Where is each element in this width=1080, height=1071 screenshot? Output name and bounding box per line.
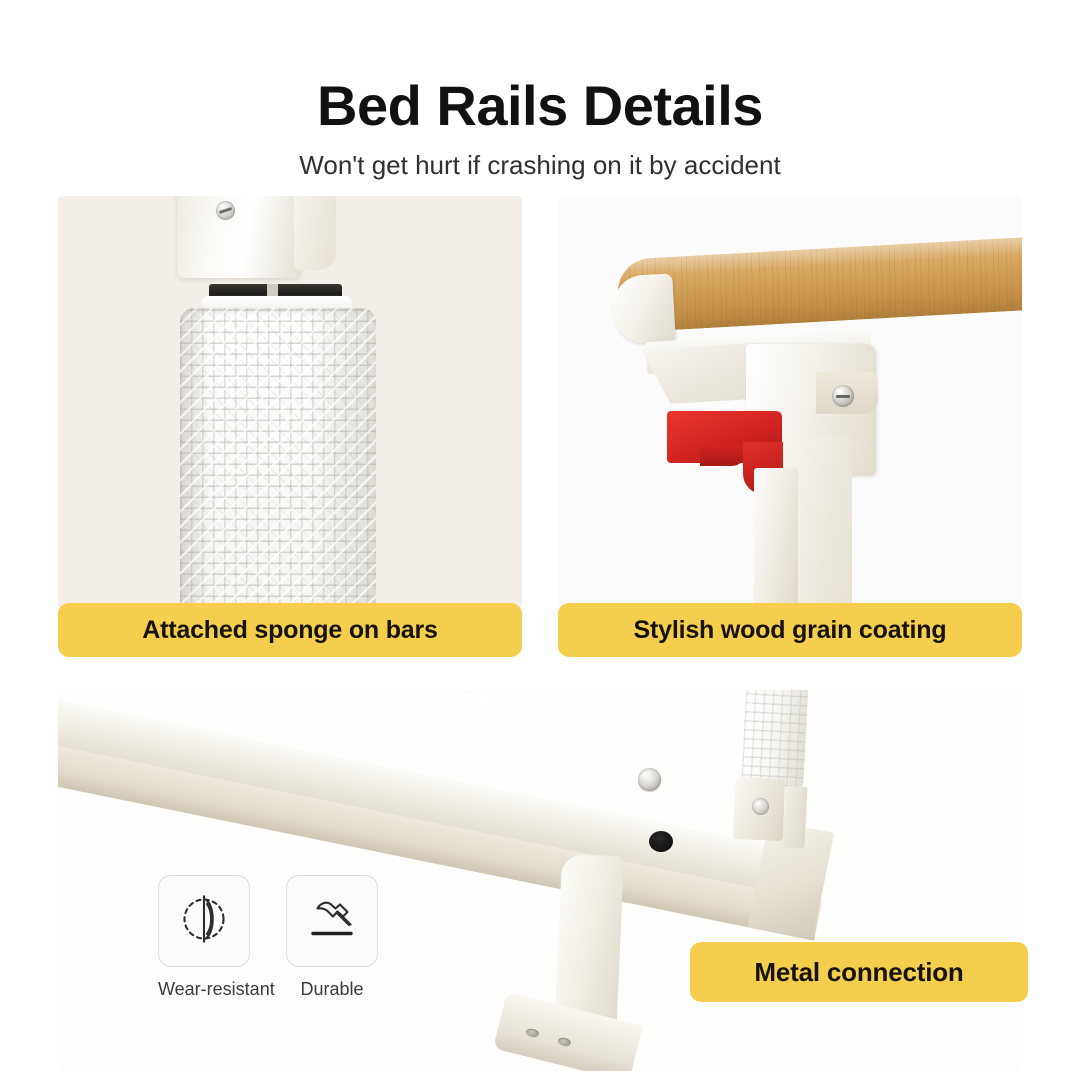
feature-badge-label: Wear-resistant [158, 980, 250, 998]
page-title: Bed Rails Details [0, 78, 1080, 134]
rail-end-cap [612, 273, 676, 344]
badge-icon-frame [286, 875, 378, 967]
photo-panel-metal-connection: Wear-resistant Durable [58, 690, 1022, 1071]
mounting-hole [649, 831, 673, 852]
feature-badge-wear-resistant: Wear-resistant [158, 875, 250, 998]
caption-wood-grain-coating: Stylish wood grain coating [558, 603, 1022, 657]
red-lever-lip [700, 446, 746, 466]
feature-badge-list: Wear-resistant Durable [158, 875, 378, 998]
post-stub [782, 785, 807, 848]
bolt-icon [638, 768, 661, 791]
feature-badge-label: Durable [286, 980, 378, 998]
screw-icon [216, 201, 235, 220]
feature-badge-durable: Durable [286, 875, 378, 998]
rail-highlight [616, 237, 1022, 277]
sponge-bar-illustration [58, 196, 522, 608]
bracket-side-face [294, 196, 336, 270]
photo-panel-wood-grain-rail [558, 196, 1022, 608]
bracket-leg-back [798, 436, 852, 608]
badge-icon-frame [158, 875, 250, 967]
bracket-block [177, 196, 301, 278]
bracket-wedge [642, 343, 763, 405]
caption-metal-connection: Metal connection [690, 942, 1028, 1002]
screw-icon [832, 385, 854, 407]
screw-icon [752, 798, 769, 815]
sponge-post [741, 690, 809, 788]
caption-attached-sponge: Attached sponge on bars [58, 603, 522, 657]
page-subtitle: Won't get hurt if crashing on it by acci… [0, 152, 1080, 178]
wood-rail-illustration [558, 196, 1022, 608]
photo-panel-sponge-bar [58, 196, 522, 608]
sponge-sleeve [180, 308, 376, 608]
wood-grain-rail [616, 237, 1022, 333]
page-header: Bed Rails Details Won't get hurt if cras… [0, 78, 1080, 178]
hammer-durable-icon [304, 891, 360, 952]
wear-resistant-icon [176, 891, 232, 952]
beam-highlight [206, 690, 489, 741]
bracket-leg-front [754, 468, 798, 608]
